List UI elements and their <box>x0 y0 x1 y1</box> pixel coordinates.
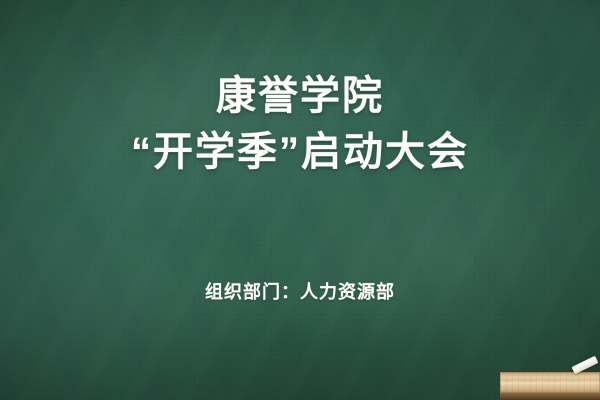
title-slide: 康誉学院 “开学季”启动大会 组织部门：人力资源部 <box>0 0 600 400</box>
chalk-ledge-front-edge <box>500 393 600 400</box>
title-line-2: “开学季”启动大会 <box>0 124 600 180</box>
chalk-ledge-wood-grain <box>500 372 600 393</box>
slide-subtitle: 组织部门：人力资源部 <box>0 278 600 304</box>
title-line-1: 康誉学院 <box>0 68 600 124</box>
chalk-ledge-icon <box>500 372 600 400</box>
slide-content: 康誉学院 “开学季”启动大会 组织部门：人力资源部 <box>0 0 600 400</box>
slide-title: 康誉学院 “开学季”启动大会 <box>0 68 600 180</box>
chalk-ledge-board <box>500 372 600 393</box>
